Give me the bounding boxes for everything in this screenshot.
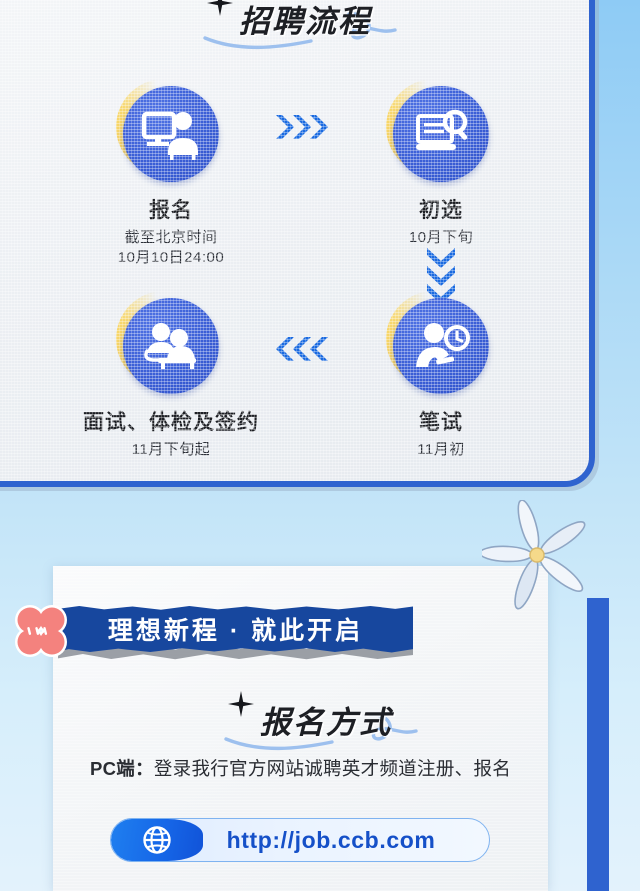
step-label: 笔试 [346, 406, 536, 436]
step-label: 初选 [346, 194, 536, 224]
registration-url-button[interactable]: http://job.ccb.com [110, 818, 490, 862]
step-icon-circle [123, 298, 219, 394]
step-icon-circle [393, 298, 489, 394]
sparkle-icon [228, 691, 254, 717]
step-node-written-exam: 笔试 11月初 [346, 298, 536, 460]
sparkle-icon [207, 0, 233, 16]
step-icon-wrap [393, 86, 489, 182]
step-icon-wrap [123, 86, 219, 182]
pc-channel-label: PC端： [90, 758, 154, 779]
section-title-method-text: 报名方式 [260, 697, 392, 742]
pc-channel-text: 登录我行官方网站诚聘英才频道注册、报名 [154, 758, 511, 779]
document-search-icon [412, 108, 470, 160]
slogan-banner-text: 理想新程 · 就此开启 [108, 611, 363, 647]
section-title-process-text: 招聘流程 [239, 0, 371, 41]
step-sub: 截至北京时间 10月10日24:00 [76, 228, 266, 269]
computer-person-icon [141, 108, 201, 160]
step-icon-wrap [123, 298, 219, 394]
step-node-preliminary: 初选 10月下旬 [346, 86, 536, 248]
blue-accent-bar [587, 598, 609, 891]
person-writing-clock-icon [412, 321, 470, 371]
two-people-table-icon [141, 321, 201, 371]
globe-icon [142, 825, 172, 855]
step-label: 面试、体检及签约 [76, 406, 266, 436]
slogan-banner: 理想新程 · 就此开启 [58, 605, 413, 653]
arrow-right-triple-icon [274, 112, 332, 142]
recruitment-process-card: 招聘流程 报名 截至北京时间 10月10日24:00 [0, 0, 595, 487]
step-node-interview: 面试、体检及签约 11月下旬起 [76, 298, 266, 460]
step-icon-circle [393, 86, 489, 182]
step-icon-wrap [393, 298, 489, 394]
step-icon-circle [123, 86, 219, 182]
pinwheel-icon [482, 500, 592, 610]
globe-icon-cap [111, 819, 203, 861]
registration-url-text[interactable]: http://job.ccb.com [203, 827, 489, 854]
step-node-registration: 报名 截至北京时间 10月10日24:00 [76, 86, 266, 269]
pc-channel-line: PC端：登录我行官方网站诚聘英才频道注册、报名 [53, 755, 548, 781]
step-sub: 11月下旬起 [76, 440, 266, 460]
step-sub: 11月初 [346, 440, 536, 460]
step-label: 报名 [76, 194, 266, 224]
arrow-left-triple-icon [274, 334, 332, 364]
flower-sticker-icon [8, 598, 74, 664]
